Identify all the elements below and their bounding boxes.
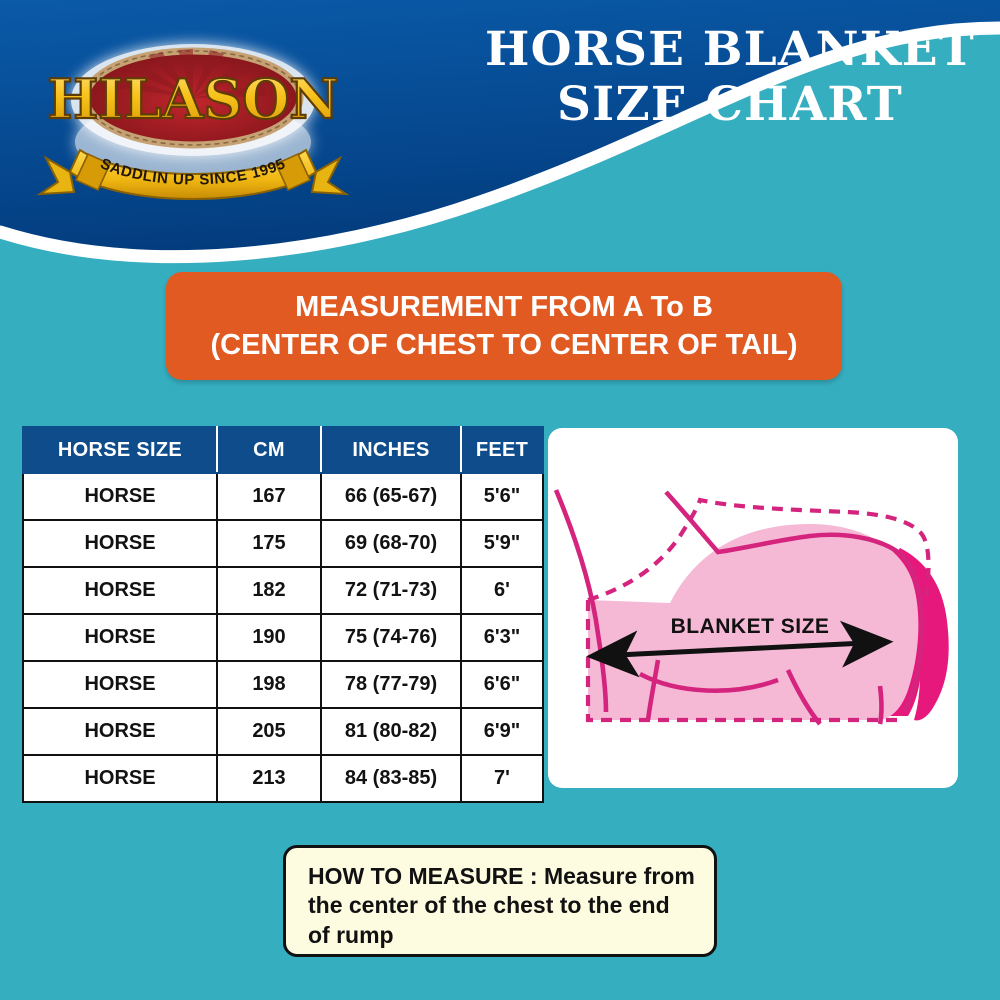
cell-feet: 6' [461,567,543,614]
cell-cm: 190 [217,614,321,661]
cell-feet: 7' [461,755,543,802]
column-header-inches: INCHES [321,427,461,473]
column-header-cm: CM [217,427,321,473]
table-row: HORSE 175 69 (68-70) 5'9" [23,520,543,567]
cell-inches: 72 (71-73) [321,567,461,614]
page-title-line-2: SIZE CHART [470,77,990,132]
cell-inches: 84 (83-85) [321,755,461,802]
cell-cm: 198 [217,661,321,708]
cell-horse-size: HORSE [23,755,217,802]
cell-feet: 6'6" [461,661,543,708]
table-header-row: HORSE SIZE CM INCHES FEET [23,427,543,473]
size-chart-page: HILASON SADDLIN UP SINCE 1995 HORSE BLAN… [0,0,1000,1000]
table-row: HORSE 213 84 (83-85) 7' [23,755,543,802]
blanket-size-label: BLANKET SIZE [671,615,830,638]
logo-wordmark: HILASON [47,67,339,131]
cell-horse-size: HORSE [23,708,217,755]
cell-inches: 78 (77-79) [321,661,461,708]
cell-horse-size: HORSE [23,567,217,614]
cell-inches: 69 (68-70) [321,520,461,567]
hilason-logo: HILASON SADDLIN UP SINCE 1995 [28,22,358,202]
cell-inches: 81 (80-82) [321,708,461,755]
column-header-feet: FEET [461,427,543,473]
measurement-banner-line-2: (CENTER OF CHEST TO CENTER OF TAIL) [211,326,798,364]
cell-cm: 182 [217,567,321,614]
how-to-measure-note: HOW TO MEASURE : Measure from the center… [283,845,717,957]
cell-horse-size: HORSE [23,520,217,567]
cell-horse-size: HORSE [23,661,217,708]
cell-feet: 5'9" [461,520,543,567]
page-title: HORSE BLANKET SIZE CHART [470,22,990,133]
cell-horse-size: HORSE [23,614,217,661]
how-to-measure-text: HOW TO MEASURE : Measure from the center… [308,863,695,948]
column-header-horse-size: HORSE SIZE [23,427,217,473]
horse-body-group: BLANKET SIZE [556,490,928,724]
measurement-banner-line-1: MEASUREMENT FROM A To B [295,288,713,326]
table-row: HORSE 198 78 (77-79) 6'6" [23,661,543,708]
table-row: HORSE 167 66 (65-67) 5'6" [23,473,543,520]
page-title-line-1: HORSE BLANKET [470,22,990,77]
size-chart-table: HORSE SIZE CM INCHES FEET HORSE 167 66 (… [22,426,544,803]
horse-blanket-diagram: BLANKET SIZE [548,428,1000,788]
cell-cm: 213 [217,755,321,802]
table-row: HORSE 182 72 (71-73) 6' [23,567,543,614]
cell-feet: 6'3" [461,614,543,661]
cell-cm: 175 [217,520,321,567]
horse-rear-leg [880,686,882,724]
cell-horse-size: HORSE [23,473,217,520]
table-row: HORSE 205 81 (80-82) 6'9" [23,708,543,755]
table-row: HORSE 190 75 (74-76) 6'3" [23,614,543,661]
cell-feet: 6'9" [461,708,543,755]
cell-inches: 75 (74-76) [321,614,461,661]
measurement-banner: MEASUREMENT FROM A To B (CENTER OF CHEST… [166,272,842,380]
table-header: HORSE SIZE CM INCHES FEET [23,427,543,473]
cell-feet: 5'6" [461,473,543,520]
table-body: HORSE 167 66 (65-67) 5'6" HORSE 175 69 (… [23,473,543,802]
cell-cm: 167 [217,473,321,520]
cell-inches: 66 (65-67) [321,473,461,520]
cell-cm: 205 [217,708,321,755]
